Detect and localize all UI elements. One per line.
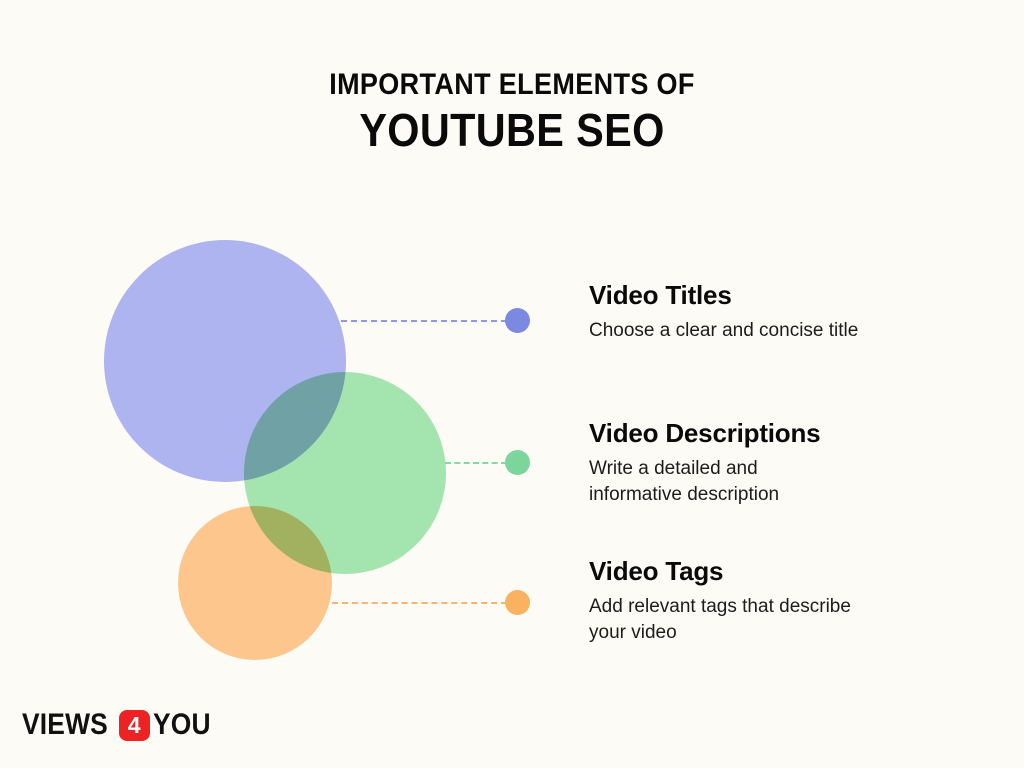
item-description: Write a detailed and informative descrip…	[589, 456, 989, 508]
list-item-video-titles: Video Titles Choose a clear and concise …	[589, 281, 989, 344]
item-heading: Video Descriptions	[589, 419, 989, 449]
item-description: Choose a clear and concise title	[589, 318, 989, 344]
logo-word-views: VIEWS	[22, 710, 108, 740]
circle-cluster	[0, 0, 560, 768]
logo-word-you: YOU	[153, 710, 211, 740]
list-item-video-descriptions: Video Descriptions Write a detailed and …	[589, 419, 989, 508]
item-heading: Video Titles	[589, 281, 989, 311]
brand-logo: VIEWS 4 YOU	[22, 708, 218, 742]
logo-badge-number: 4	[128, 714, 141, 737]
logo-play-badge-icon: 4	[119, 710, 150, 741]
item-description: Add relevant tags that describe your vid…	[589, 594, 989, 646]
item-heading: Video Tags	[589, 557, 989, 587]
list-item-video-tags: Video Tags Add relevant tags that descri…	[589, 557, 989, 646]
orange-circle	[178, 506, 332, 660]
